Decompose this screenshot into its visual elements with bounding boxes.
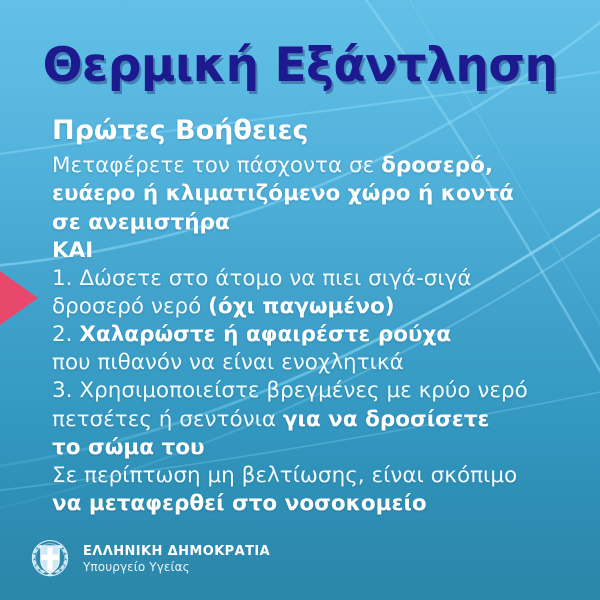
paragraph-step-3: 3. Χρησιμοποιείστε βρεγμένες με κρύο νερ… [52, 377, 572, 461]
line-text-bold: σε ανεμιστήρα [52, 210, 230, 235]
organization-name: ΕΛΛΗΝΙΚΗ ΔΗΜΟΚΡΑΤΙΑ [83, 544, 270, 559]
line-text-bold: για να δροσίσετε [283, 407, 490, 432]
line-text: Μεταφέρετε τον πάσχοντα σε [52, 153, 381, 178]
line-text: Σε περίπτωση μη βελτίωσης, είναι σκόπιμο [52, 463, 517, 488]
line-text: 2. [52, 322, 79, 347]
greek-coat-of-arms-icon [28, 536, 72, 582]
line-text: 1. Δώσετε στο άτομο να πιει σιγά-σιγά [52, 266, 472, 291]
line-text: δροσερό νερό [52, 294, 208, 319]
pink-arrow-accent [0, 271, 38, 325]
footer-branding: ΕΛΛΗΝΙΚΗ ΔΗΜΟΚΡΑΤΙΑ Υπουργείο Υγείας [28, 536, 270, 582]
line-text-bold: ΚΑΙ [52, 238, 93, 263]
line-text-bold: (όχι παγωμένο) [208, 294, 394, 319]
page-title: Θερμική Εξάντληση [0, 38, 600, 93]
line-text-bold: Χαλαρώστε ή αφαιρέστε ρούχα [79, 322, 451, 347]
ministry-name: Υπουργείο Υγείας [83, 560, 270, 574]
line-text: 3. Χρησιμοποιείστε βρεγμένες με κρύο νερ… [52, 378, 528, 403]
line-text-bold: ευάερο ή κλιματιζόμενο χώρο ή κοντά [52, 181, 514, 206]
paragraph-closing: Σε περίπτωση μη βελτίωσης, είναι σκόπιμο… [52, 462, 572, 518]
paragraph-transfer: Μεταφέρετε τον πάσχοντα σε δροσερό, ευάε… [52, 152, 572, 236]
paragraph-and: ΚΑΙ [52, 237, 572, 265]
line-text-bold: να μεταφερθεί στο νοσοκομείο [52, 491, 427, 516]
line-text: πετσέτες ή σεντόνια [52, 407, 283, 432]
line-text-bold: το σώμα του [52, 435, 205, 460]
section-subtitle: Πρώτες Βοήθειες [52, 116, 572, 146]
footer-text-block: ΕΛΛΗΝΙΚΗ ΔΗΜΟΚΡΑΤΙΑ Υπουργείο Υγείας [83, 544, 270, 573]
paragraph-step-1: 1. Δώσετε στο άτομο να πιει σιγά-σιγά δρ… [52, 265, 572, 321]
content-body: Πρώτες Βοήθειες Μεταφέρετε τον πάσχοντα … [52, 116, 572, 518]
paragraph-step-2: 2. Χαλαρώστε ή αφαιρέστε ρούχα που πιθαν… [52, 321, 572, 377]
heat-exhaustion-poster: Θερμική Εξάντληση Πρώτες Βοήθειες Μεταφέ… [0, 0, 600, 600]
line-text: που πιθανόν να είναι ενοχλητικά [52, 350, 404, 375]
line-text-bold: δροσερό, [381, 153, 493, 178]
